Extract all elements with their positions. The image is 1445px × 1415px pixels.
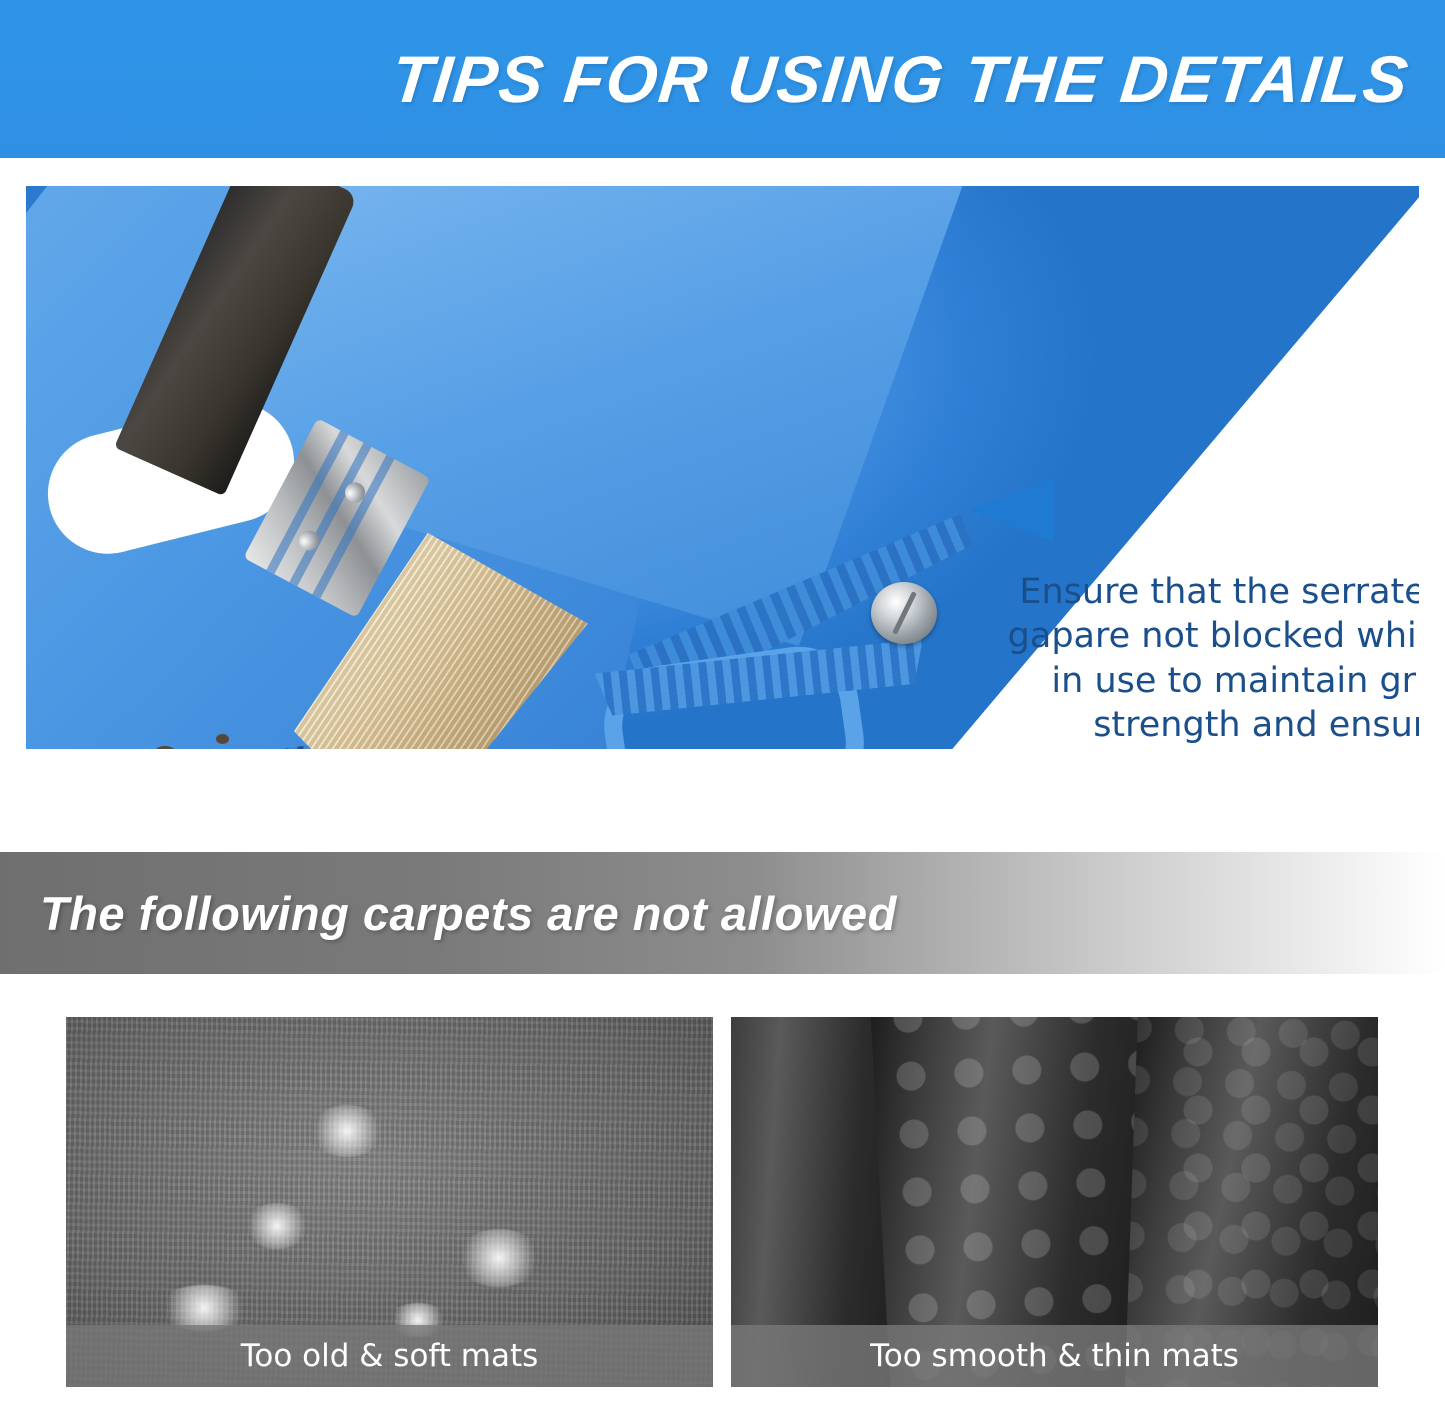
dirt-fleck	[216, 734, 229, 744]
carpet-card-label: Too smooth & thin mats	[731, 1325, 1378, 1387]
hero-caption-line: gapare not blocked while	[988, 614, 1419, 658]
pointer-arrow-icon	[970, 478, 1054, 542]
page-title: TIPS FOR USING THE DETAILS	[388, 41, 1413, 117]
hero-caption-line: Ensure that the serrated	[988, 570, 1419, 614]
carpet-fiber-tuft	[456, 1229, 542, 1287]
hero-photo-panel: Ensure that the serrated gapare not bloc…	[26, 186, 1419, 749]
not-allowed-carpets-gallery: Too old & soft mats Too smooth & thin ma…	[66, 1017, 1378, 1387]
carpet-card-old-soft: Too old & soft mats	[66, 1017, 713, 1387]
top-banner: TIPS FOR USING THE DETAILS	[0, 0, 1445, 158]
carpet-card-label: Too old & soft mats	[66, 1325, 713, 1387]
hero-caption-line: strength and ensure	[988, 703, 1419, 747]
tool-screw	[871, 582, 937, 644]
section-title: The following carpets are not allowed	[40, 886, 897, 941]
hero-caption: Ensure that the serrated gapare not bloc…	[988, 570, 1419, 749]
hero-caption-line: proper function	[988, 748, 1419, 749]
hero-caption-line: in use to maintain grip	[988, 659, 1419, 703]
carpet-card-smooth-thin: Too smooth & thin mats	[731, 1017, 1378, 1387]
carpet-fiber-tuft	[310, 1105, 384, 1157]
carpet-fiber-tuft	[244, 1203, 310, 1249]
section-banner: The following carpets are not allowed	[0, 852, 1445, 974]
